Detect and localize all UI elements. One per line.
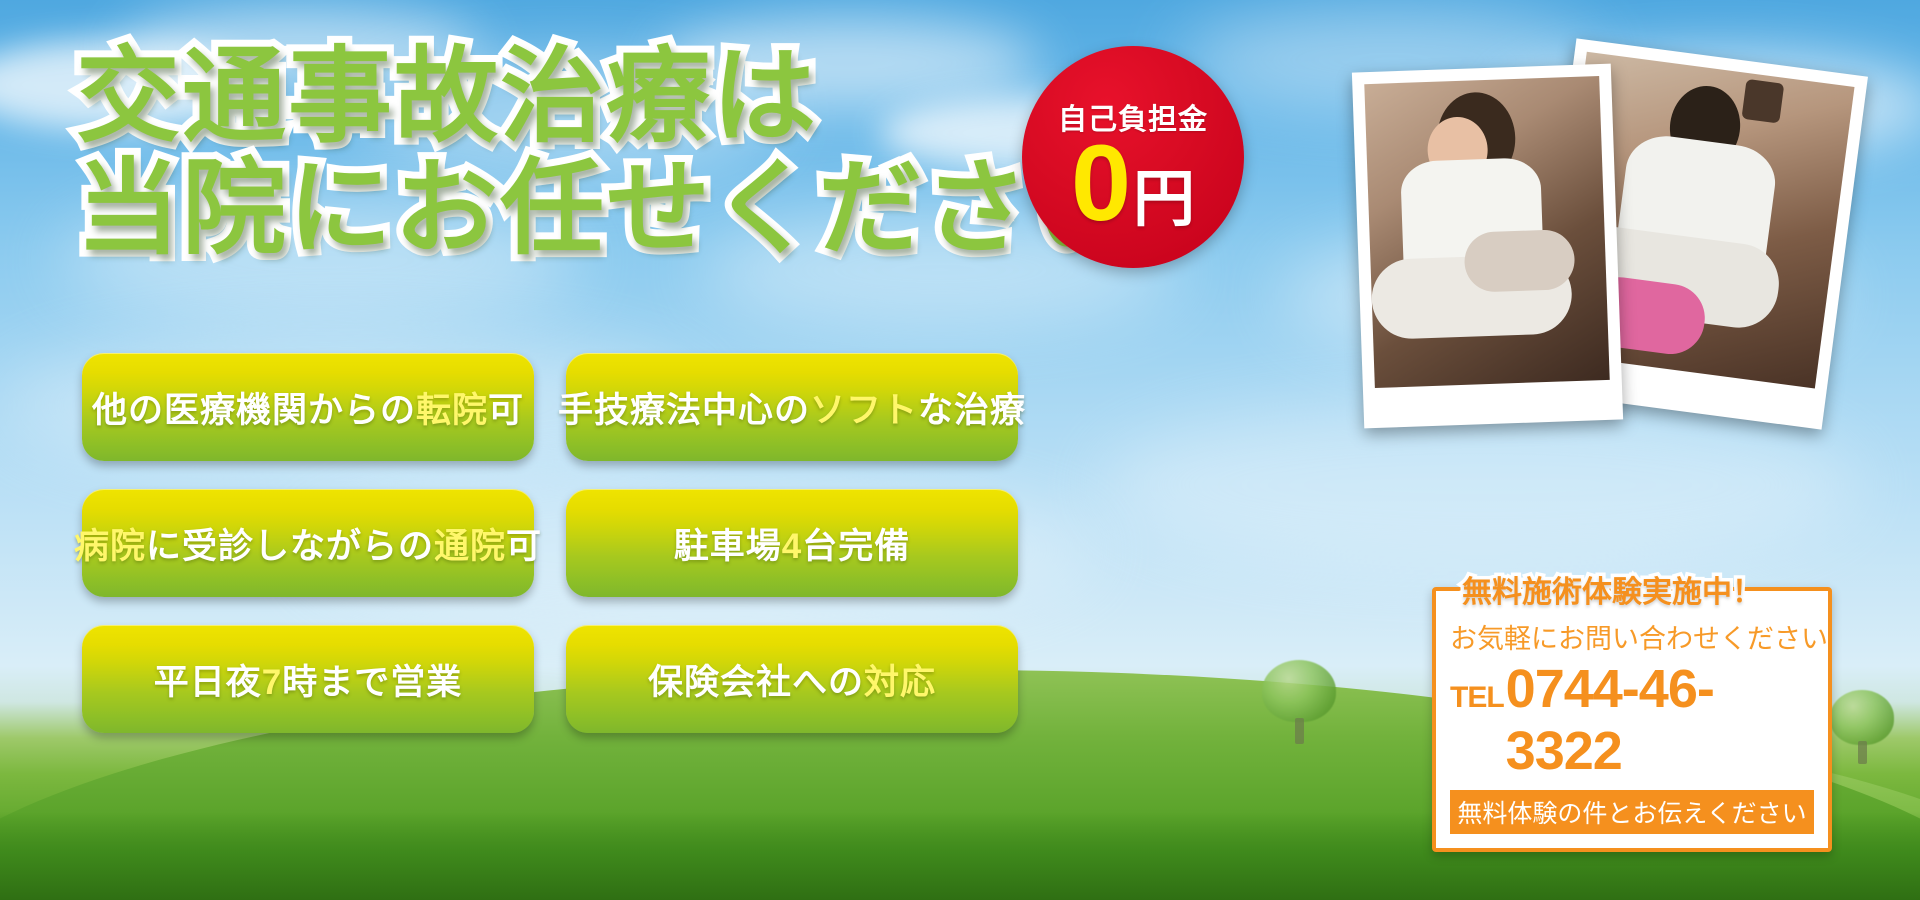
tel-label: TEL bbox=[1450, 681, 1504, 715]
badge-amount: 0 bbox=[1071, 132, 1129, 235]
feature-label: 駐車場4台完備 bbox=[674, 518, 911, 569]
telephone-row[interactable]: TEL 0744-46-3322 bbox=[1450, 658, 1814, 782]
feature-label: 病院に受診しながらの通院可 bbox=[74, 518, 542, 569]
badge-amount-group: 0 円 bbox=[1071, 132, 1195, 235]
feature-label: 手技療法中心のソフトな治療 bbox=[558, 382, 1026, 433]
tel-number[interactable]: 0744-46-3322 bbox=[1506, 658, 1814, 782]
feature-button-insurance[interactable]: 保険会社への対応 bbox=[566, 625, 1018, 733]
contact-note: 無料体験の件とお伝えください bbox=[1450, 790, 1814, 834]
photo-therapist-front bbox=[1364, 76, 1609, 388]
feature-label: 保険会社への対応 bbox=[648, 654, 936, 705]
headline: 交通事故治療は 当院にお任せください bbox=[76, 44, 1136, 262]
feature-button-weekday-hours[interactable]: 平日夜7時まで営業 bbox=[82, 625, 534, 733]
zero-cost-badge: 自己負担金 0 円 bbox=[1022, 46, 1244, 268]
promo-banner: 交通事故治療は 当院にお任せください 自己負担金 0 円 bbox=[0, 0, 1920, 900]
feature-button-grid: 他の医療機関からの転院可 手技療法中心のソフトな治療 病院に受診しながらの通院可… bbox=[82, 353, 1018, 733]
contact-box: 無料施術体験実施中！ お気軽にお問い合わせください TEL 0744-46-33… bbox=[1432, 587, 1832, 852]
headline-line-1: 交通事故治療は bbox=[76, 44, 1136, 150]
tree-icon bbox=[1830, 690, 1894, 766]
free-trial-ribbon: 無料施術体験実施中！ bbox=[1462, 567, 1844, 611]
contact-subtitle: お気軽にお問い合わせください bbox=[1450, 617, 1814, 656]
headline-line-2: 当院にお任せください bbox=[76, 156, 1136, 262]
contact-card: お気軽にお問い合わせください TEL 0744-46-3322 無料体験の件とお… bbox=[1432, 587, 1832, 852]
feature-button-parking[interactable]: 駐車場4台完備 bbox=[566, 489, 1018, 597]
photo-frame-front bbox=[1352, 64, 1623, 429]
feature-button-hospital-concurrent[interactable]: 病院に受診しながらの通院可 bbox=[82, 489, 534, 597]
tree-icon bbox=[1262, 660, 1336, 746]
photo-group bbox=[1364, 34, 1834, 454]
feature-button-transfer[interactable]: 他の医療機関からの転院可 bbox=[82, 353, 534, 461]
badge-currency: 円 bbox=[1133, 169, 1195, 231]
feature-label: 他の医療機関からの転院可 bbox=[92, 382, 524, 433]
feature-label: 平日夜7時まで営業 bbox=[154, 654, 463, 705]
feature-button-manual-therapy[interactable]: 手技療法中心のソフトな治療 bbox=[566, 353, 1018, 461]
